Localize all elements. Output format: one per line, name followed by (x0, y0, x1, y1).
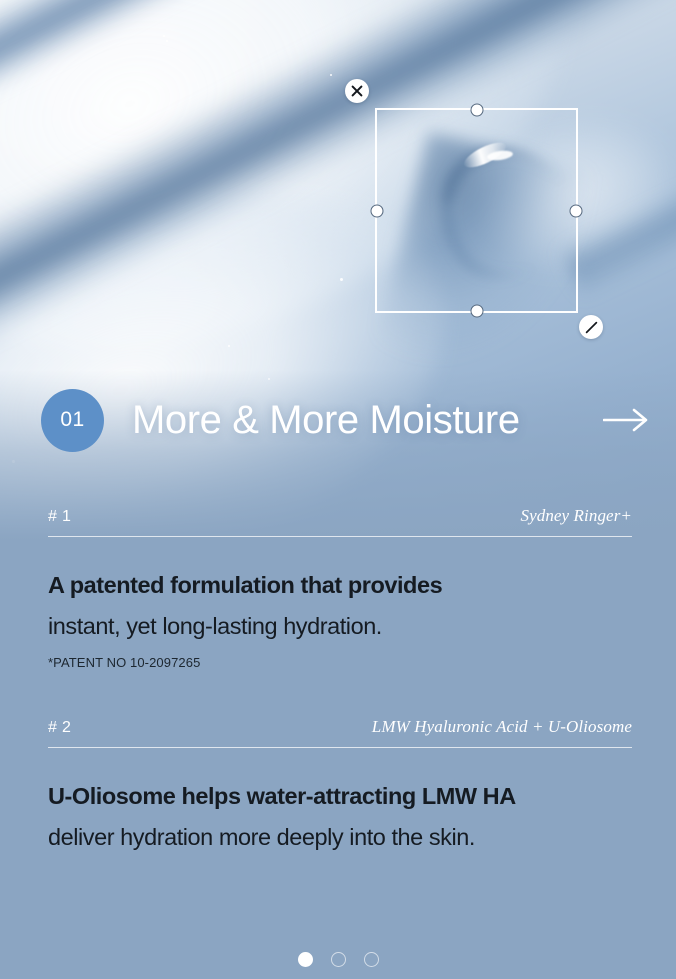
crop-handle-left[interactable] (371, 204, 384, 217)
pagination-dot-2[interactable] (331, 952, 346, 967)
feature-2-meta: # 2 LMW Hyaluronic Acid + U-Oliosome (48, 717, 632, 748)
slide-number-badge: 01 (41, 389, 104, 452)
feature-2-tag: LMW Hyaluronic Acid + U-Oliosome (372, 717, 632, 737)
pagination-dots (0, 952, 676, 967)
crop-handle-bottom[interactable] (470, 305, 483, 318)
pagination-dot-3[interactable] (364, 952, 379, 967)
photo-speck (330, 74, 332, 76)
feature-2-line-2: deliver hydration more deeply into the s… (48, 817, 632, 858)
promo-slide: 01 More & More Moisture # 1 Sydney Ringe… (0, 0, 676, 979)
feature-1-number: # 1 (48, 508, 71, 526)
slide-headline-row: 01 More & More Moisture (0, 386, 676, 454)
pagination-dot-1[interactable] (298, 952, 313, 967)
feature-block-1: # 1 Sydney Ringer+ A patented formulatio… (48, 506, 632, 670)
feature-1-line-1: A patented formulation that provides (48, 565, 632, 606)
page-title: More & More Moisture (132, 398, 520, 443)
close-icon (351, 85, 363, 97)
feature-2-line-1: U-Oliosome helps water-attracting LMW HA (48, 776, 632, 817)
feature-2-description: U-Oliosome helps water-attracting LMW HA… (48, 776, 632, 859)
crop-handle-right[interactable] (570, 204, 583, 217)
photo-speck (166, 40, 168, 42)
photo-speck (163, 35, 165, 37)
next-slide-button[interactable] (598, 392, 654, 448)
feature-1-line-2: instant, yet long-lasting hydration. (48, 606, 632, 647)
slide-number-label: 01 (60, 408, 84, 432)
arrow-right-icon (603, 407, 649, 433)
feature-block-2: # 2 LMW Hyaluronic Acid + U-Oliosome U-O… (48, 717, 632, 859)
feature-1-footnote: *PATENT NO 10-2097265 (48, 655, 632, 670)
photo-speck (340, 278, 343, 281)
resize-diagonal-icon (585, 321, 598, 334)
photo-speck (228, 345, 230, 347)
feature-1-tag: Sydney Ringer+ (520, 506, 632, 526)
feature-1-description: A patented formulation that provides ins… (48, 565, 632, 648)
feature-2-number: # 2 (48, 719, 71, 737)
close-button[interactable] (345, 79, 369, 103)
crop-selection-box[interactable] (375, 108, 578, 313)
crop-handle-top[interactable] (470, 104, 483, 117)
feature-1-meta: # 1 Sydney Ringer+ (48, 506, 632, 537)
resize-button[interactable] (579, 315, 603, 339)
